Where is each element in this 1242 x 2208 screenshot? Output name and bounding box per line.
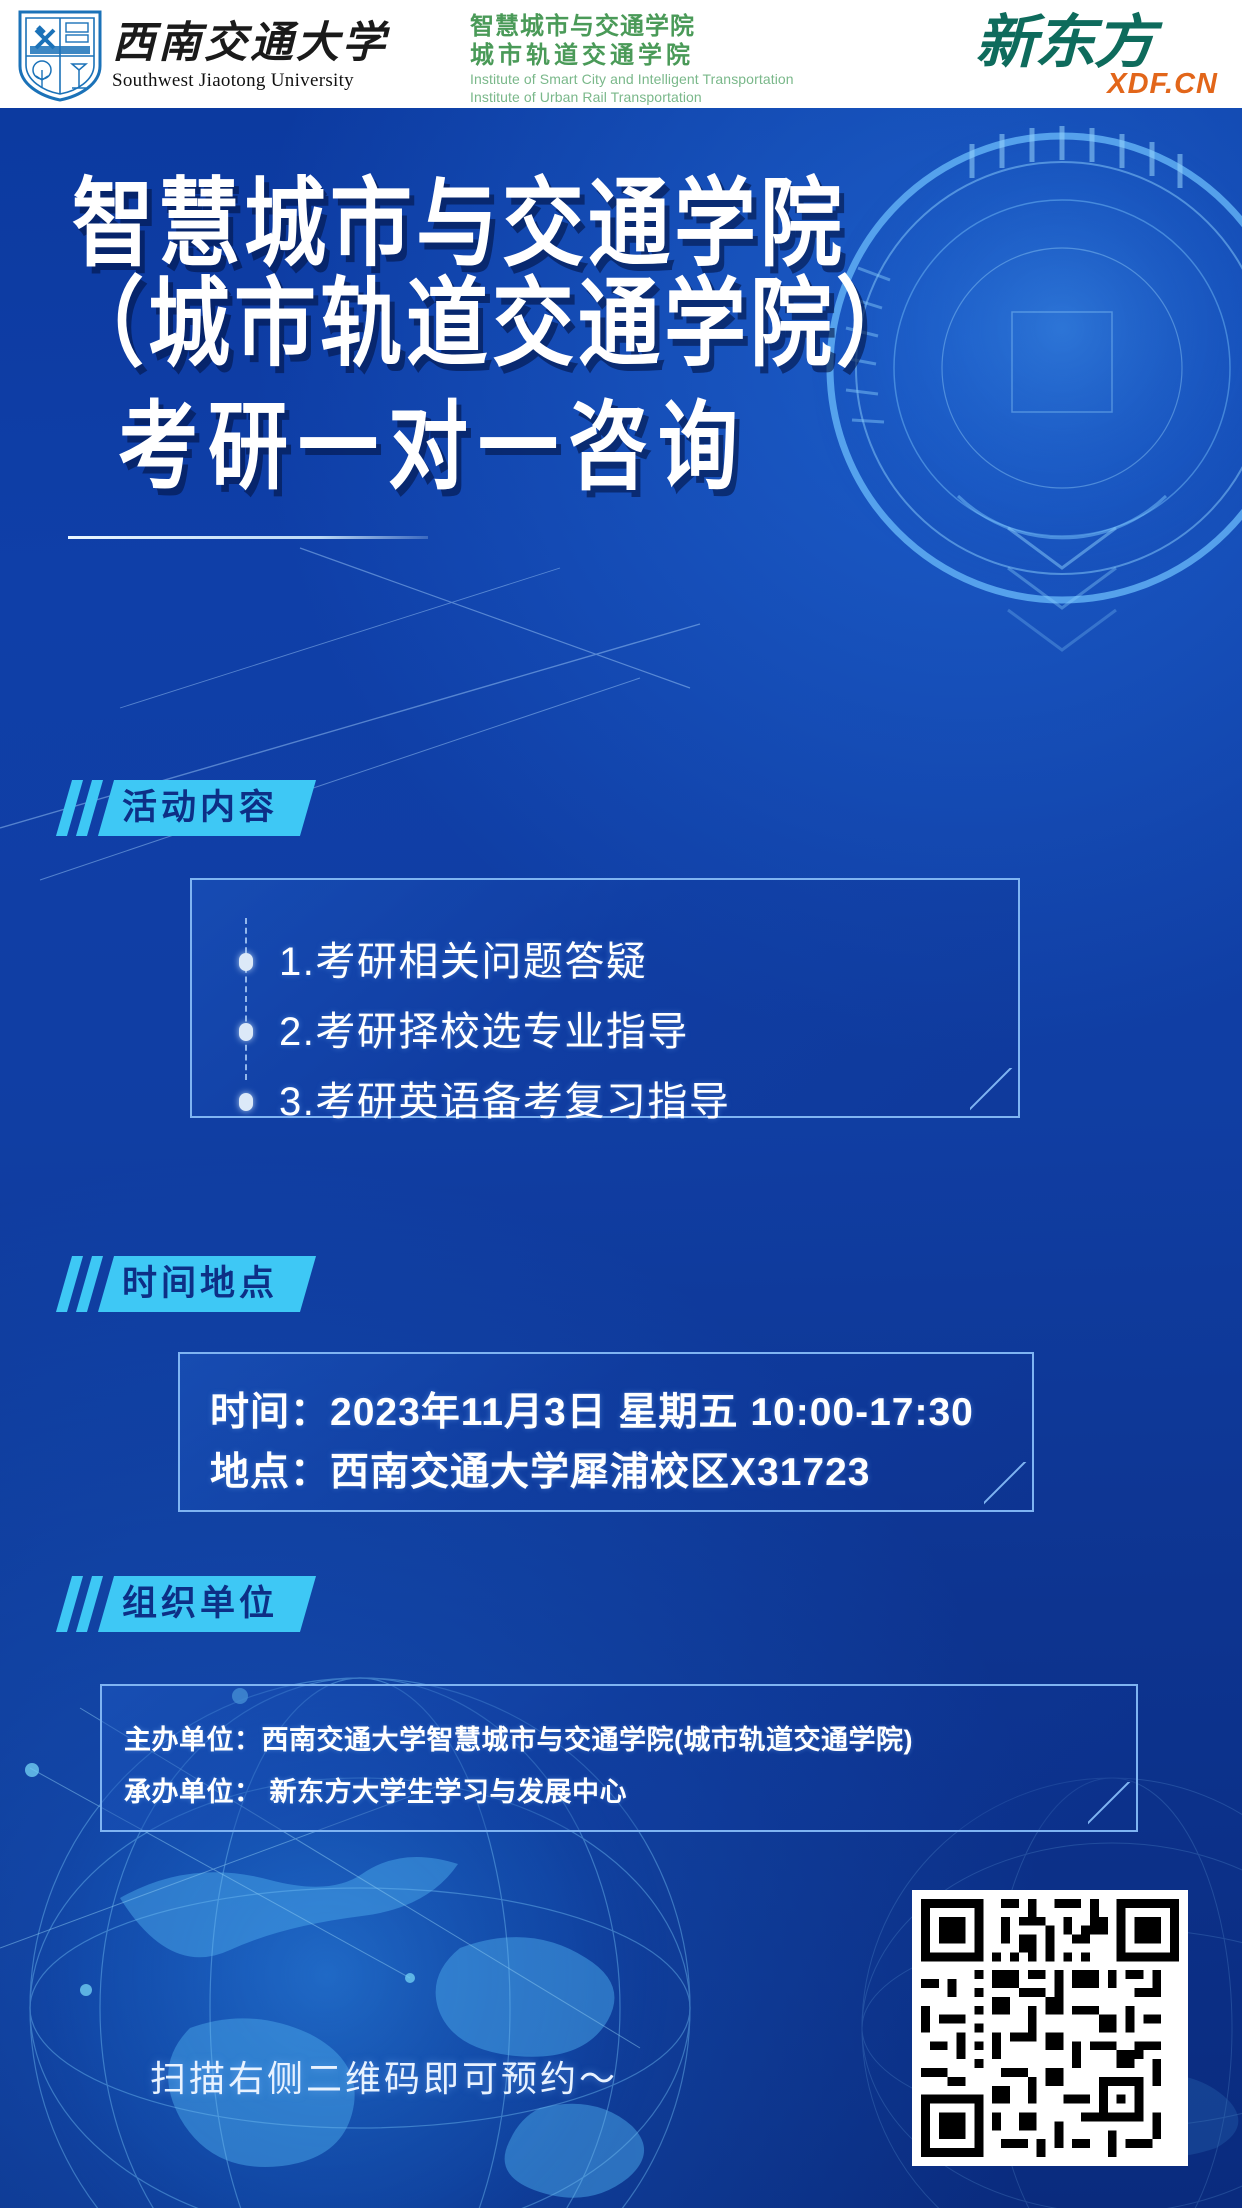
institute-name-en-1: Institute of Smart City and Intelligent … bbox=[470, 70, 794, 88]
list-item: 3.考研英语备考复习指导 bbox=[239, 1078, 730, 1126]
institute-name-block: 智慧城市与交通学院 城市轨道交通学院 Institute of Smart Ci… bbox=[470, 12, 794, 106]
qr-code-icon[interactable] bbox=[912, 1890, 1188, 2166]
partner-logo-en: XDF.CN bbox=[1107, 68, 1218, 101]
list-item-label: 3.考研英语备考复习指导 bbox=[279, 1078, 730, 1126]
list-item-label: 2.考研择校选专业指导 bbox=[279, 1008, 689, 1056]
scan-instruction: 扫描右侧二维码即可预约～ bbox=[150, 2050, 618, 2102]
list-item-label: 1.考研相关问题答疑 bbox=[279, 938, 647, 986]
institute-name-cn-1: 智慧城市与交通学院 bbox=[470, 12, 794, 41]
poster-root: 西南交通大学 Southwest Jiaotong University 智慧城… bbox=[0, 0, 1242, 2208]
university-name-en: Southwest Jiaotong University bbox=[112, 70, 342, 92]
list-item: 2.考研择校选专业指导 bbox=[239, 1008, 689, 1056]
event-time: 时间：2023年11月3日 星期五 10:00-17:30 bbox=[210, 1388, 974, 1438]
partner-logo: 新东方 XDF.CN bbox=[975, 14, 1220, 96]
bullet-icon bbox=[239, 953, 253, 971]
badge-chip: 组织单位 bbox=[98, 1576, 316, 1632]
section-badge-activity: 活动内容 bbox=[62, 780, 308, 836]
panel-corner-cut bbox=[970, 1068, 1016, 1114]
organizer-host: 主办单位：西南交通大学智慧城市与交通学院(城市轨道交通学院) bbox=[124, 1720, 913, 1760]
section-badge-time-place: 时间地点 bbox=[62, 1256, 308, 1312]
panel-corner-cut bbox=[984, 1462, 1030, 1508]
university-shield-icon bbox=[14, 8, 106, 102]
organizer-coorganizer: 承办单位： 新东方大学生学习与发展中心 bbox=[124, 1772, 627, 1812]
university-name-cn: 西南交通大学 bbox=[112, 18, 342, 70]
poster-header: 西南交通大学 Southwest Jiaotong University 智慧城… bbox=[0, 0, 1242, 108]
badge-chip: 活动内容 bbox=[98, 780, 316, 836]
poster-title-line-2: （城市轨道交通学院） bbox=[62, 266, 922, 384]
section-badge-organizers: 组织单位 bbox=[62, 1576, 308, 1632]
bullet-icon bbox=[239, 1093, 253, 1111]
institute-name-cn-2: 城市轨道交通学院 bbox=[470, 41, 794, 70]
badge-chip: 时间地点 bbox=[98, 1256, 316, 1312]
list-item: 1.考研相关问题答疑 bbox=[239, 938, 647, 986]
section-badge-label: 时间地点 bbox=[122, 1256, 278, 1312]
event-location: 地点：西南交通大学犀浦校区X31723 bbox=[210, 1448, 870, 1498]
partner-logo-cn: 新东方 bbox=[975, 14, 1235, 72]
university-name: 西南交通大学 Southwest Jiaotong University bbox=[112, 18, 342, 92]
panel-corner-cut bbox=[1088, 1782, 1134, 1828]
poster-title-line-3: 考研一对一咨询 bbox=[118, 390, 748, 505]
section-badge-label: 组织单位 bbox=[122, 1576, 278, 1632]
bullet-icon bbox=[239, 1023, 253, 1041]
section-badge-label: 活动内容 bbox=[122, 780, 278, 836]
institute-name-en-2: Institute of Urban Rail Transportation bbox=[470, 88, 794, 106]
title-divider bbox=[68, 536, 428, 539]
